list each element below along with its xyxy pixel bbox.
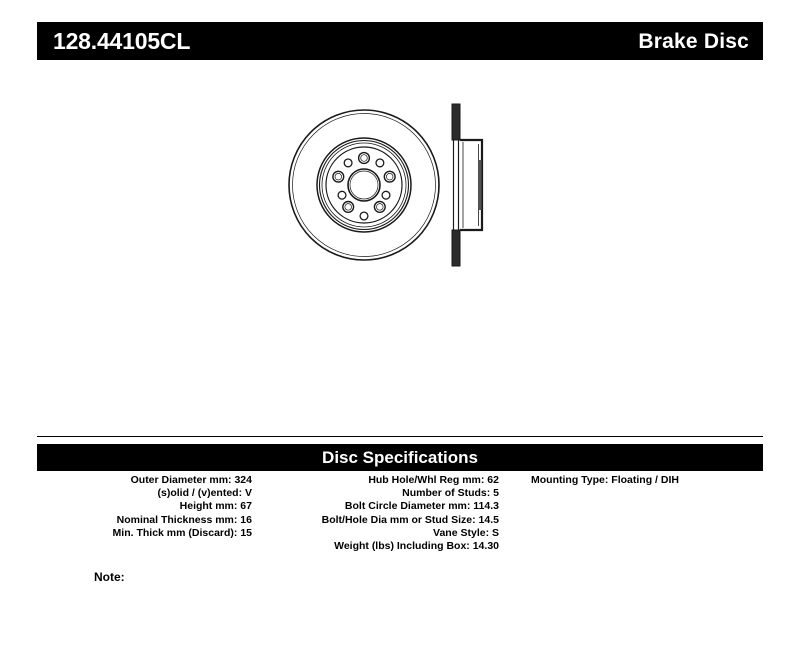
spec-columns: Outer Diameter mm: 324 (s)olid / (v)ente… (37, 474, 763, 553)
title-bar: 128.44105CL Brake Disc (37, 22, 763, 60)
spec-row: Min. Thick mm (Discard): 15 (37, 527, 252, 540)
product-drawing (37, 70, 763, 420)
brake-rotor-edge-section-view (452, 104, 482, 266)
spec-section-header: Disc Specifications (37, 444, 763, 471)
spec-row: Bolt Circle Diameter mm: 114.3 (260, 500, 499, 513)
spec-row: Number of Studs: 5 (260, 487, 499, 500)
spec-column-middle: Hub Hole/Whl Reg mm: 62 Number of Studs:… (260, 474, 507, 553)
spec-row: Bolt/Hole Dia mm or Stud Size: 14.5 (260, 514, 499, 527)
note-label: Note: (94, 570, 125, 584)
part-number: 128.44105CL (53, 30, 190, 53)
spec-column-right: Mounting Type: Floating / DIH (507, 474, 763, 487)
spec-row: Outer Diameter mm: 324 (37, 474, 252, 487)
note-area: Note: (37, 570, 763, 584)
spec-row: (s)olid / (v)ented: V (37, 487, 252, 500)
brake-rotor-drawing-svg (282, 100, 522, 280)
spec-row: Vane Style: S (260, 527, 499, 540)
spec-section-divider (37, 436, 763, 437)
spec-row: Nominal Thickness mm: 16 (37, 514, 252, 527)
spec-row: Hub Hole/Whl Reg mm: 62 (260, 474, 499, 487)
spec-column-left: Outer Diameter mm: 324 (s)olid / (v)ente… (37, 474, 260, 540)
spec-row: Height mm: 67 (37, 500, 252, 513)
brake-rotor-face-view (289, 110, 439, 260)
spec-row: Mounting Type: Floating / DIH (531, 474, 763, 487)
spec-row: Weight (lbs) Including Box: 14.30 (260, 540, 499, 553)
spec-section-title: Disc Specifications (322, 449, 478, 466)
product-type-label: Brake Disc (638, 31, 749, 52)
auxiliary-holes (338, 159, 390, 220)
